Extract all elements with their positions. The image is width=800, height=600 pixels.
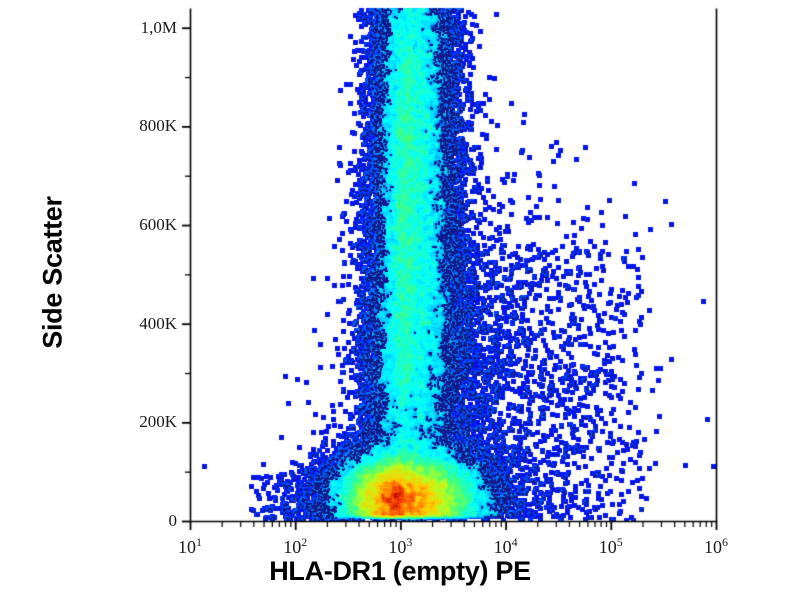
x-tick-mantissa: 10	[178, 537, 196, 557]
y-tick-label: 400K	[139, 314, 177, 334]
x-tick-exponent: 2	[301, 535, 307, 549]
y-tick-label: 800K	[139, 116, 177, 136]
x-tick-label: 101	[160, 535, 220, 558]
x-tick-mantissa: 10	[704, 537, 722, 557]
x-tick-label: 105	[581, 535, 641, 558]
density-scatter-plot	[0, 0, 800, 600]
x-tick-mantissa: 10	[283, 537, 301, 557]
y-axis-title: Side Scatter	[38, 103, 69, 443]
x-tick-label: 104	[476, 535, 536, 558]
x-tick-label: 106	[686, 535, 746, 558]
y-tick-label: 1,0M	[141, 18, 177, 38]
x-axis-title: HLA-DR1 (empty) PE	[0, 556, 800, 587]
x-tick-exponent: 4	[512, 535, 518, 549]
x-tick-exponent: 1	[196, 535, 202, 549]
x-tick-mantissa: 10	[599, 537, 617, 557]
y-tick-label: 600K	[139, 215, 177, 235]
y-tick-label: 200K	[139, 412, 177, 432]
x-tick-label: 103	[370, 535, 430, 558]
y-tick-label: 0	[169, 511, 178, 531]
x-tick-exponent: 5	[617, 535, 623, 549]
x-tick-exponent: 6	[722, 535, 728, 549]
x-tick-mantissa: 10	[494, 537, 512, 557]
flow-cytometry-figure: 0200K400K600K800K1,0M 101102103104105106…	[0, 0, 800, 600]
x-tick-exponent: 3	[406, 535, 412, 549]
x-tick-mantissa: 10	[388, 537, 406, 557]
x-tick-label: 102	[265, 535, 325, 558]
